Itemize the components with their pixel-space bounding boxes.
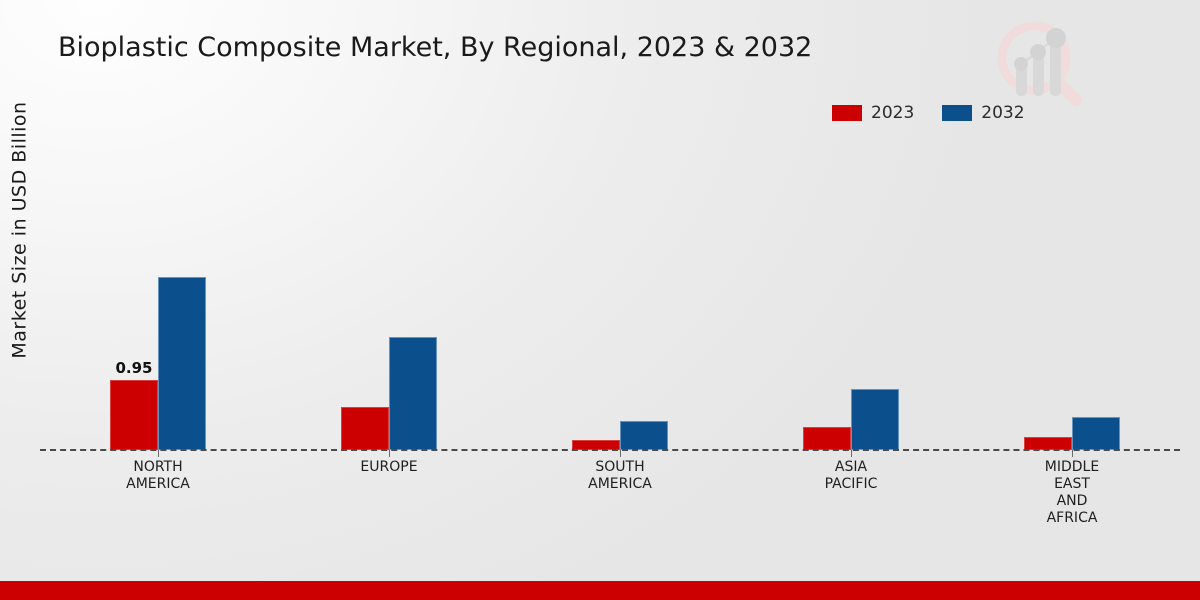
x-axis-tick-asia-pacific [851,450,852,457]
x-axis-baseline [40,449,1180,451]
x-axis-label-north-america: NORTH AMERICA [68,459,248,493]
chart-title: Bioplastic Composite Market, By Regional… [58,32,812,63]
cat-line: EUROPE [299,459,479,476]
legend-label-2023: 2023 [871,103,914,123]
x-axis-label-asia-pacific: ASIA PACIFIC [761,459,941,493]
bar-2032-asia-pacific[interactable] [851,389,899,450]
cat-line: MIDDLE [982,459,1162,476]
bar-2023-europe[interactable] [341,407,389,450]
legend-label-2032: 2032 [981,103,1024,123]
x-axis-tick-north-america [158,450,159,457]
bar-2023-north-america[interactable]: 0.95 [110,380,158,450]
x-axis-label-south-america: SOUTH AMERICA [530,459,710,493]
chart-canvas: Bioplastic Composite Market, By Regional… [0,0,1200,600]
cat-line: AFRICA [982,510,1162,527]
legend-item-2032[interactable]: 2032 [942,103,1024,123]
legend-swatch-2023 [832,105,862,121]
cat-line: SOUTH [530,459,710,476]
cat-line: PACIFIC [761,476,941,493]
cat-line: AND [982,493,1162,510]
cat-line: ASIA [761,459,941,476]
x-axis-label-europe: EUROPE [299,459,479,476]
bar-2032-middle-east-and-africa[interactable] [1072,417,1120,450]
y-axis-title: Market Size in USD Billion [0,0,40,460]
cat-line: AMERICA [68,476,248,493]
plot-area: 0.95 [40,130,1180,450]
bar-2023-asia-pacific[interactable] [803,427,851,450]
bar-value-label-north-america-2023: 0.95 [110,359,158,377]
cat-line: EAST [982,476,1162,493]
legend-swatch-2032 [942,105,972,121]
x-axis-tick-europe [389,450,390,457]
bar-2032-europe[interactable] [389,337,437,450]
bar-2032-south-america[interactable] [620,421,668,450]
bar-2032-north-america[interactable] [158,277,206,450]
cat-line: NORTH [68,459,248,476]
cat-line: AMERICA [530,476,710,493]
magnifier-bar-chart-logo-icon [990,14,1086,106]
x-axis-tick-middle-east-and-africa [1072,450,1073,457]
chart-legend: 2023 2032 [832,103,1025,123]
footer-accent-bar [0,581,1200,600]
x-axis-tick-south-america [620,450,621,457]
x-axis-label-middle-east-and-africa: MIDDLE EAST AND AFRICA [982,459,1162,527]
legend-item-2023[interactable]: 2023 [832,103,914,123]
y-axis-title-text: Market Size in USD Billion [9,101,31,358]
